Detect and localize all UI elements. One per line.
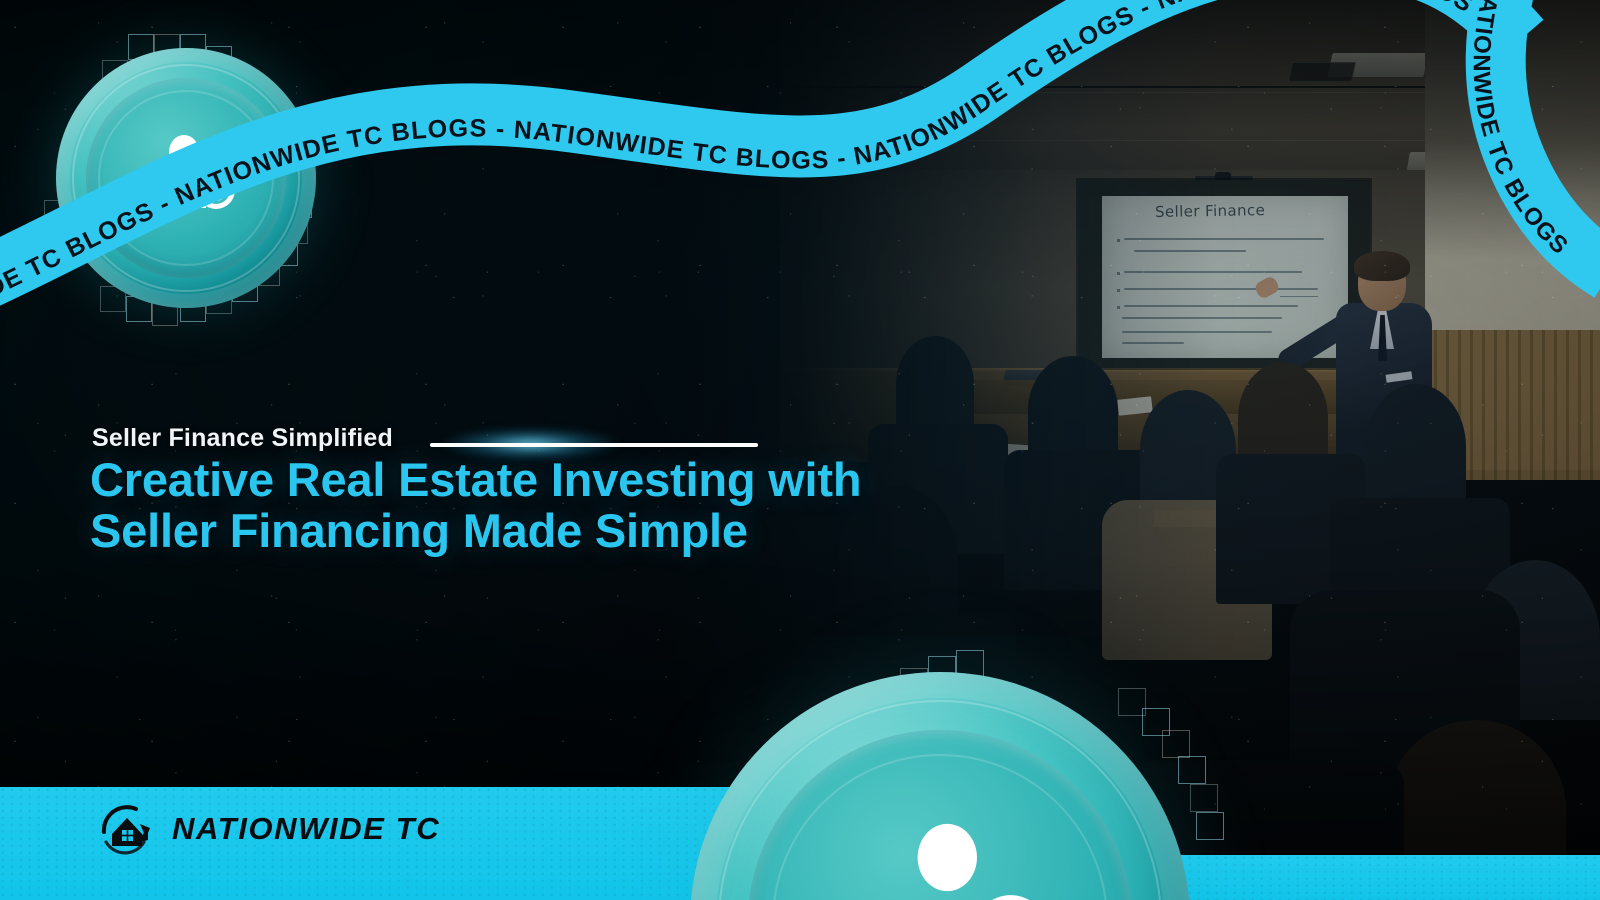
brand-logo[interactable]: NATIONWIDE TC	[96, 798, 440, 860]
headline-line-1: Creative Real Estate Investing with	[90, 455, 870, 506]
banner-canvas: Seller Finance	[0, 0, 1600, 900]
svg-text:$: $	[210, 181, 221, 200]
person-with-money-icon: $	[150, 128, 246, 224]
house-with-arrow-icon	[96, 798, 158, 860]
divider-line	[430, 443, 758, 447]
headline-line-2: Seller Financing Made Simple	[90, 506, 870, 557]
brand-logo-text: NATIONWIDE TC	[172, 811, 440, 847]
page-title: Creative Real Estate Investing with Sell…	[90, 455, 870, 557]
eyebrow-text: Seller Finance Simplified	[92, 424, 393, 453]
person-with-money-icon	[880, 810, 1070, 900]
